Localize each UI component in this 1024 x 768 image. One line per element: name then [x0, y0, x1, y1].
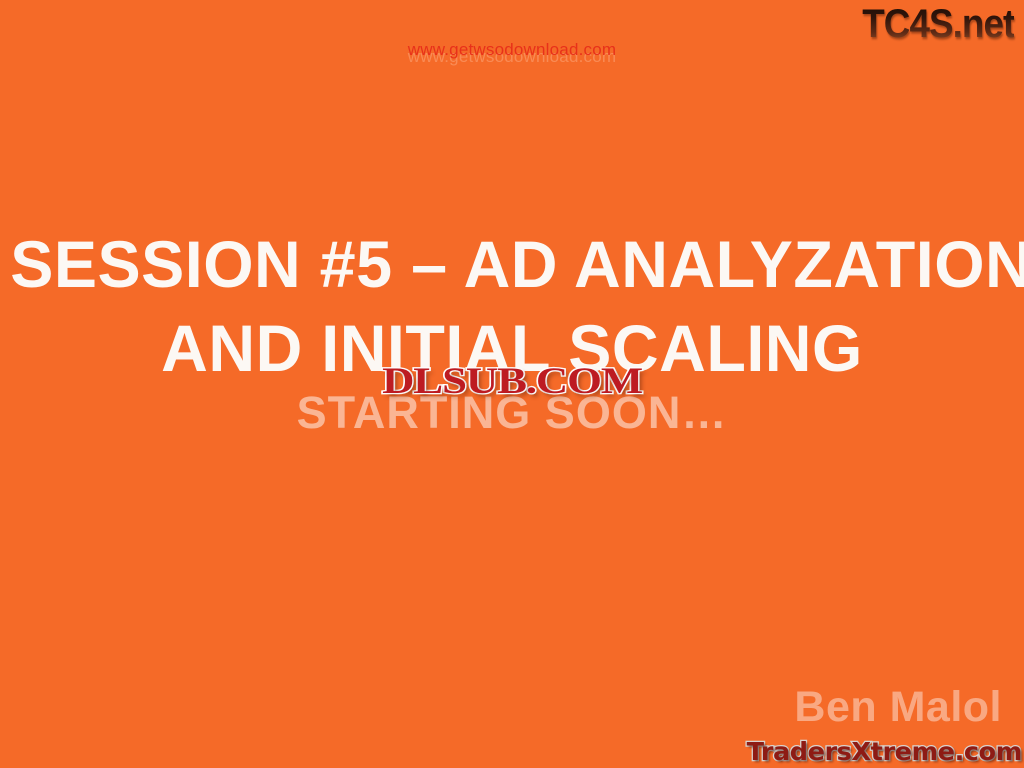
presentation-slide: www.getwsodownload.com www.getwsodownloa… — [0, 0, 1024, 768]
slide-title-line-1: Session #5 – Ad Analyzation — [10, 222, 1014, 306]
watermark-tradersxtreme: TradersXtreme.com — [747, 737, 1022, 766]
slide-title: Session #5 – Ad Analyzation and Initial … — [10, 222, 1014, 390]
slide-subtitle: Starting Soon… — [0, 389, 1024, 437]
watermark-getwsodownload-ghost: www.getwsodownload.com — [0, 47, 1024, 67]
presenter-name: Ben Malol — [794, 684, 1002, 730]
slide-title-line-2: and Initial Scaling — [10, 306, 1014, 390]
tc4s-logo: TC4S.net — [862, 2, 1014, 47]
